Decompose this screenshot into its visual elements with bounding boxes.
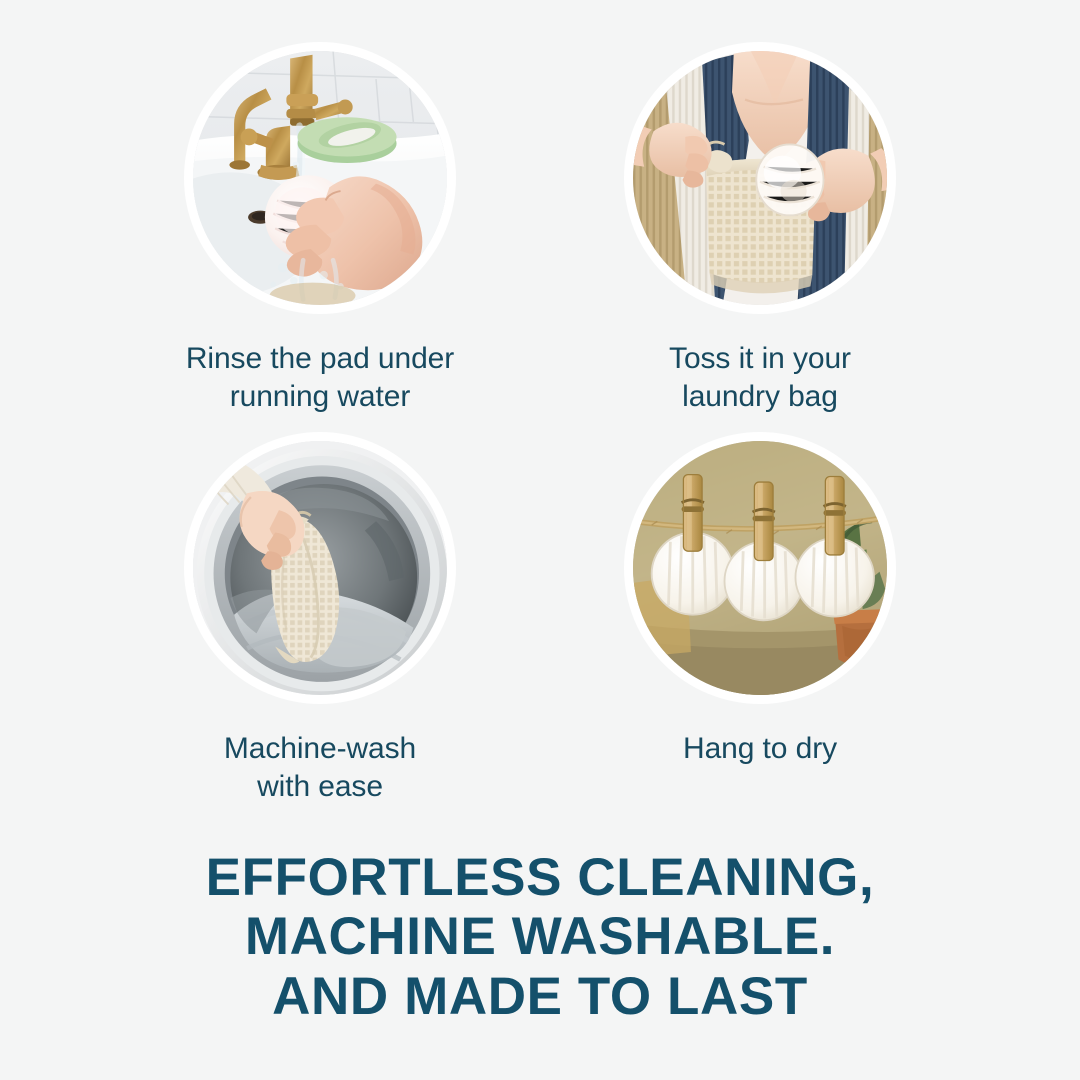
step-rinse: Rinse the pad under running water: [100, 42, 540, 416]
step-machine-wash: Machine-wash with ease: [100, 432, 540, 806]
step-toss-caption: Toss it in your laundry bag: [540, 340, 980, 416]
placing-mesh-bag-in-washing-machine-photo: [193, 441, 447, 695]
step-toss: Toss it in your laundry bag: [540, 42, 980, 416]
headline: EFFORTLESS CLEANING, MACHINE WASHABLE. A…: [0, 848, 1080, 1026]
dropping-pad-into-mesh-laundry-bag-photo: [633, 51, 887, 305]
rinsing-pad-under-faucet-photo: [193, 51, 447, 305]
step-rinse-photo-frame: [184, 42, 456, 314]
product-feature-infographic: Rinse the pad under running water: [0, 0, 1080, 1080]
step-hang-dry: Hang to dry: [540, 432, 980, 768]
steps-grid: Rinse the pad under running water: [0, 0, 1080, 820]
step-hang-dry-photo-frame: [624, 432, 896, 704]
headline-line-1: EFFORTLESS CLEANING,: [0, 848, 1080, 907]
step-toss-photo-frame: [624, 42, 896, 314]
headline-line-3: AND MADE TO LAST: [0, 967, 1080, 1026]
step-machine-wash-photo-frame: [184, 432, 456, 704]
headline-line-2: MACHINE WASHABLE.: [0, 907, 1080, 966]
step-machine-wash-caption: Machine-wash with ease: [100, 730, 540, 806]
pads-hanging-on-clothesline-photo: [633, 441, 887, 695]
step-hang-dry-caption: Hang to dry: [540, 730, 980, 768]
step-rinse-caption: Rinse the pad under running water: [100, 340, 540, 416]
